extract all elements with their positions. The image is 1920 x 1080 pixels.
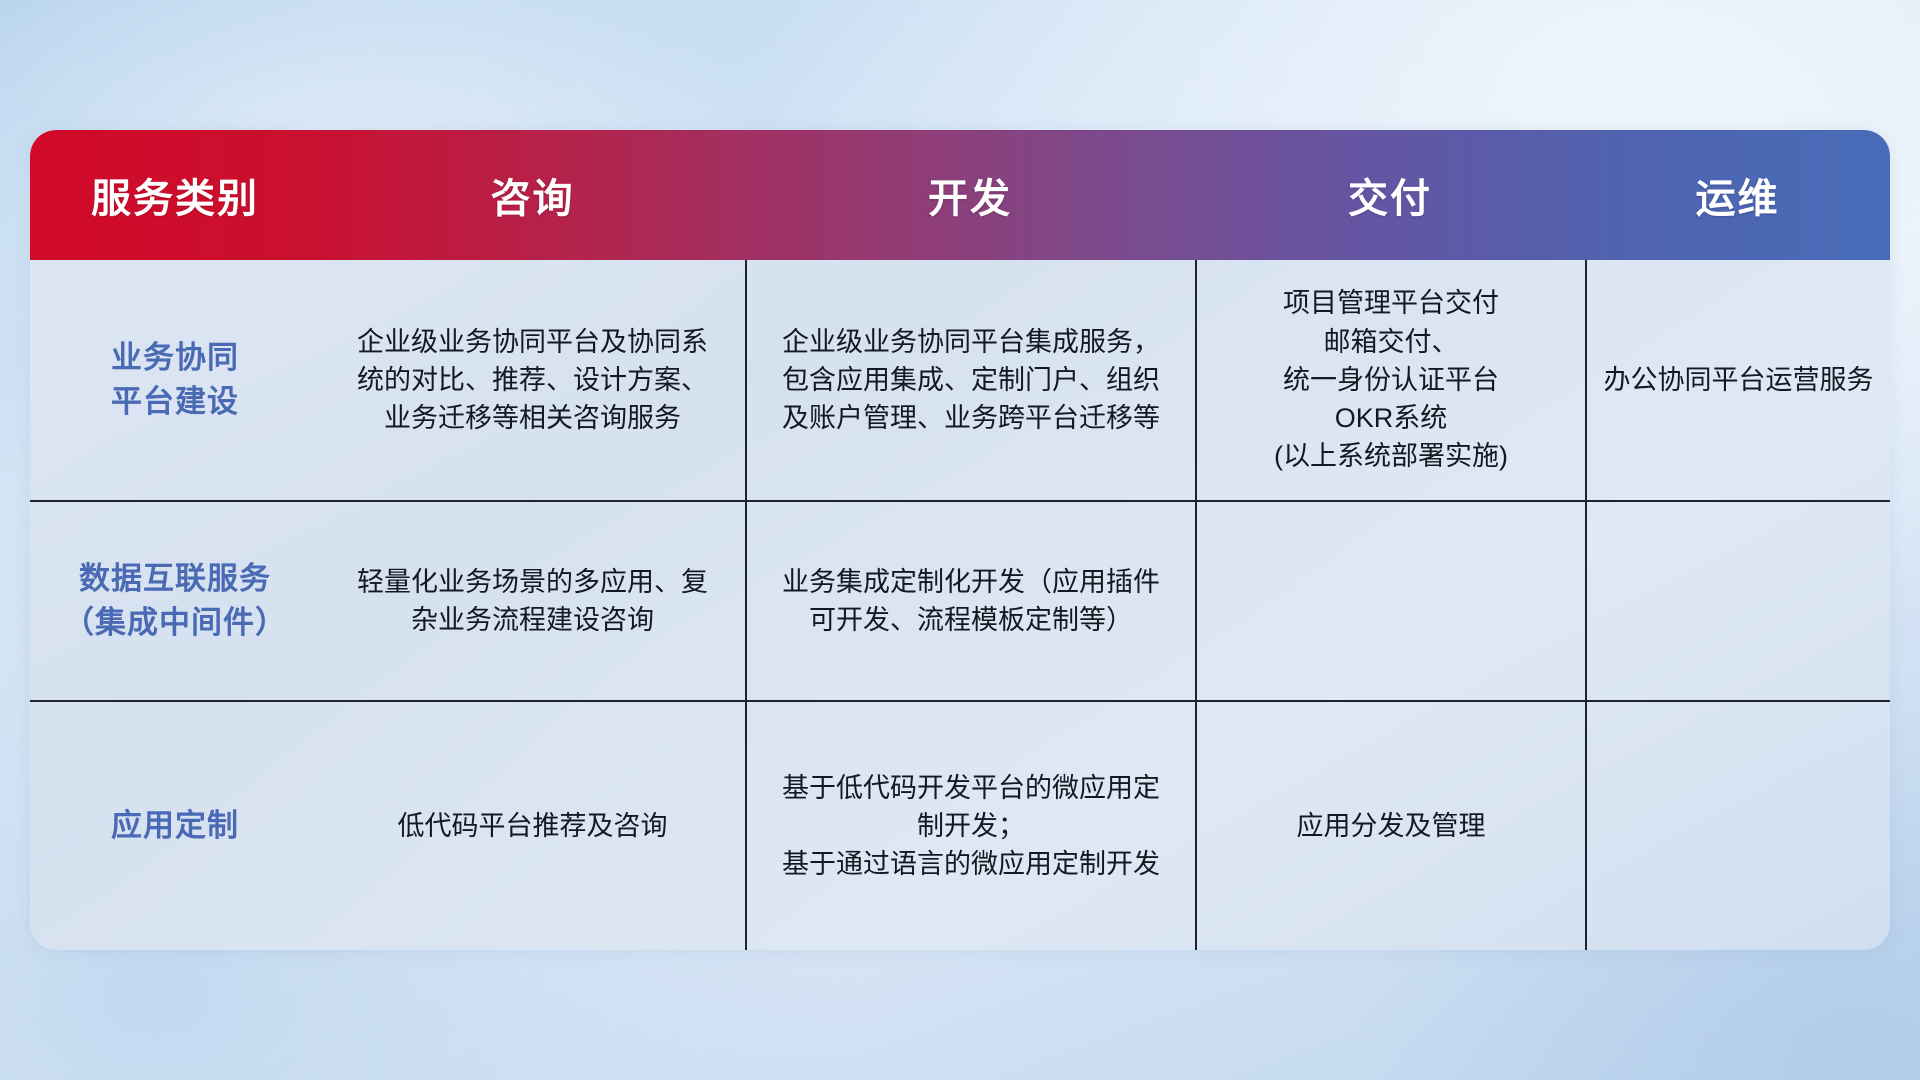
row-2-delivery — [1195, 500, 1585, 700]
row-1-category: 业务协同 平台建设 — [30, 260, 320, 500]
row-2-category: 数据互联服务 （集成中间件） — [30, 500, 320, 700]
row-3-category: 应用定制 — [30, 700, 320, 950]
column-header-consulting: 咨询 — [320, 166, 745, 224]
row-2-consulting: 轻量化业务场景的多应用、复 杂业务流程建设咨询 — [320, 500, 745, 700]
row-3-operations — [1585, 700, 1890, 950]
table-header-row: 服务类别 咨询 开发 交付 运维 — [30, 130, 1890, 260]
row-2-operations — [1585, 500, 1890, 700]
row-3-delivery: 应用分发及管理 — [1195, 700, 1585, 950]
row-3-consulting: 低代码平台推荐及咨询 — [320, 700, 745, 950]
row-1-delivery: 项目管理平台交付 邮箱交付、 统一身份认证平台 OKR系统 (以上系统部署实施) — [1195, 260, 1585, 500]
column-header-operations: 运维 — [1585, 166, 1890, 224]
row-1-consulting: 企业级业务协同平台及协同系 统的对比、推荐、设计方案、 业务迁移等相关咨询服务 — [320, 260, 745, 500]
service-matrix-card: 服务类别 咨询 开发 交付 运维 业务协同 平台建设 企业级业务协同平台及协同系… — [30, 130, 1890, 950]
row-3-development: 基于低代码开发平台的微应用定 制开发； 基于通过语言的微应用定制开发 — [745, 700, 1195, 950]
table-body: 业务协同 平台建设 企业级业务协同平台及协同系 统的对比、推荐、设计方案、 业务… — [30, 260, 1890, 950]
column-header-development: 开发 — [745, 166, 1195, 224]
column-header-service-category: 服务类别 — [30, 166, 320, 224]
row-1-operations: 办公协同平台运营服务 — [1585, 260, 1890, 500]
column-header-delivery: 交付 — [1195, 166, 1585, 224]
row-2-development: 业务集成定制化开发（应用插件 可开发、流程模板定制等） — [745, 500, 1195, 700]
row-1-development: 企业级业务协同平台集成服务， 包含应用集成、定制门户、组织 及账户管理、业务跨平… — [745, 260, 1195, 500]
